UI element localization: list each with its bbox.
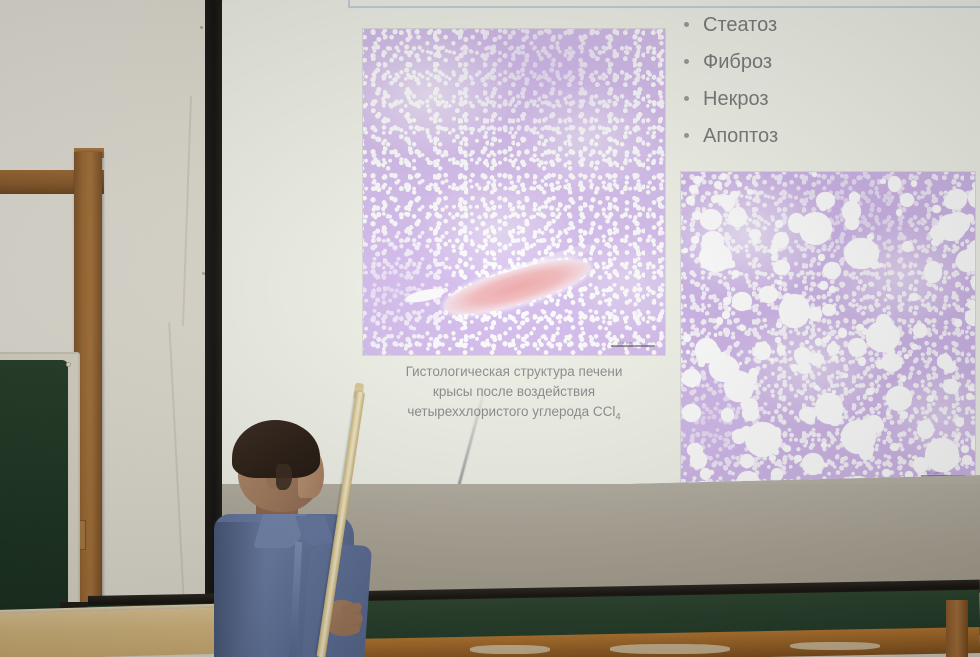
fat-vacuole — [911, 180, 917, 186]
slide-bullet-list: Стеатоз Фиброз Некроз Апоптоз — [684, 14, 980, 162]
stain-base — [363, 29, 665, 355]
fat-vacuole — [742, 406, 758, 421]
scale-bar-label: 50 μm — [927, 470, 940, 475]
ledge-wear — [790, 642, 880, 650]
fat-vacuole — [886, 386, 912, 411]
presenter-sideburn — [276, 464, 292, 490]
fat-vacuole — [858, 357, 866, 366]
fat-vacuole — [829, 286, 836, 293]
fat-vacuole — [955, 435, 960, 440]
fat-vacuole — [732, 292, 752, 311]
scale-bar: 100 μm — [611, 336, 657, 348]
fat-vacuole — [819, 281, 828, 290]
wall-speck — [200, 26, 203, 29]
caption-line-3-text: четыреххлористого углерода CCl — [407, 404, 615, 419]
fat-vacuole — [770, 358, 774, 362]
fat-vacuole — [812, 172, 817, 177]
fat-vacuole — [728, 307, 731, 311]
caption-line-3-subscript: 4 — [615, 412, 620, 423]
fat-vacuole — [719, 256, 731, 269]
fat-vacuole — [966, 214, 974, 222]
fat-vacuole — [963, 478, 966, 482]
fat-vacuole — [896, 209, 903, 216]
fat-vacuole — [773, 449, 779, 455]
fat-vacuole — [955, 417, 964, 427]
fat-vacuole — [876, 314, 891, 329]
fat-vacuole — [783, 445, 791, 452]
bullet-dot-icon — [684, 96, 689, 101]
caption-line-2: крысы после воздействия — [354, 382, 674, 402]
fat-vacuole — [692, 211, 702, 220]
bullet-dot-icon — [684, 59, 689, 64]
fat-vacuole — [911, 344, 918, 350]
histology-image-overview: 100 μm — [362, 28, 666, 356]
fat-vacuole — [882, 469, 891, 477]
fat-vacuole — [698, 360, 705, 367]
fat-vacuole — [771, 468, 783, 481]
fat-vacuole — [749, 368, 758, 378]
fat-vacuole — [954, 323, 957, 326]
fat-vacuole — [823, 262, 841, 279]
fat-vacuole — [856, 324, 864, 331]
fat-vacuole — [972, 182, 976, 189]
fat-vacuole — [723, 297, 731, 305]
fat-vacuole — [752, 237, 759, 244]
fat-vacuole — [730, 207, 746, 223]
bullet-label: Фиброз — [703, 51, 772, 74]
fat-vacuole — [763, 438, 773, 446]
scale-bar-line — [611, 345, 655, 347]
fat-vacuole — [944, 457, 953, 466]
fat-vacuole — [924, 261, 943, 282]
fat-vacuole — [753, 385, 758, 390]
fat-vacuole — [971, 242, 976, 251]
ledge-wear — [610, 644, 730, 654]
fat-vacuole — [808, 307, 821, 320]
fat-vacuole — [740, 454, 754, 467]
scale-bar: 50 μm — [921, 466, 967, 478]
fat-vacuole — [777, 280, 782, 284]
fat-vacuole — [822, 304, 836, 316]
ledge-wear — [470, 645, 550, 654]
fat-vacuole — [843, 373, 848, 377]
fat-vacuole — [747, 189, 753, 194]
fat-vacuole — [937, 354, 952, 369]
fat-vacuole — [776, 322, 781, 327]
fat-vacuole — [900, 376, 906, 382]
bullet-item: Фиброз — [684, 51, 980, 88]
fat-vacuole — [711, 195, 721, 203]
fat-vacuole — [739, 362, 742, 365]
fat-vacuole — [900, 193, 914, 207]
fat-vacuole — [838, 328, 847, 338]
bullet-item: Апоптоз — [684, 125, 980, 162]
lecture-photo: Токсическое поражение печени CCL4 100 μm — [0, 0, 980, 657]
scale-bar-line — [921, 475, 965, 477]
fat-vacuole — [904, 354, 909, 359]
bullet-label: Некроз — [703, 88, 769, 111]
fat-vacuole — [722, 311, 730, 319]
fat-vacuole — [965, 309, 976, 326]
fat-vacuole — [689, 185, 698, 194]
fat-vacuole — [927, 395, 934, 402]
fat-vacuole — [890, 443, 899, 451]
fat-vacuole — [826, 335, 831, 339]
fat-vacuole — [709, 470, 714, 475]
fat-vacuole — [967, 300, 976, 310]
bullet-dot-icon — [684, 133, 689, 138]
fat-vacuole — [849, 342, 866, 357]
stain-blotches — [363, 29, 665, 355]
fat-vacuole — [952, 199, 959, 206]
fat-vacuole — [932, 205, 941, 213]
fat-vacuole — [791, 364, 798, 372]
fat-vacuole — [844, 238, 879, 269]
fat-vacuole — [797, 362, 811, 374]
wooden-post-right — [946, 600, 968, 657]
fat-vacuole — [905, 471, 913, 479]
fat-vacuole — [943, 379, 958, 394]
fat-vacuole — [682, 404, 701, 422]
fat-vacuole — [818, 470, 822, 474]
fat-vacuole — [732, 270, 739, 278]
fat-vacuole — [775, 337, 781, 343]
bullet-label: Апоптоз — [703, 125, 778, 148]
fat-vacuole — [741, 426, 752, 438]
bullet-item: Некроз — [684, 88, 980, 125]
fat-vacuole — [815, 393, 843, 423]
slide-title-box — [348, 0, 980, 8]
caption-line-1: Гистологическая структура печени — [354, 362, 674, 382]
fat-vacuole — [747, 476, 755, 484]
fat-vacuole — [827, 343, 839, 355]
fat-vacuole — [794, 455, 802, 462]
bullet-label: Стеатоз — [703, 14, 777, 37]
caption-line-3: четыреххлористого углерода CCl4 — [354, 402, 674, 428]
chalkboard-screw — [66, 362, 71, 367]
fat-vacuole — [865, 445, 875, 454]
fat-vacuole — [879, 263, 883, 267]
bullet-item: Стеатоз — [684, 14, 980, 51]
fat-vacuole — [900, 411, 908, 419]
fat-vacuole — [881, 353, 902, 371]
fat-vacuole — [686, 196, 695, 205]
fat-vacuole — [683, 248, 688, 253]
chalkboard-left — [0, 360, 68, 632]
fat-vacuole — [714, 181, 722, 189]
fat-vacuole — [769, 455, 775, 461]
fat-vacuole — [770, 246, 778, 255]
fat-vacuole — [821, 442, 827, 448]
fat-vacuole — [779, 294, 810, 329]
fat-vacuole — [880, 179, 886, 184]
fat-vacuole — [683, 334, 691, 343]
fat-vacuole — [850, 437, 856, 443]
fat-vacuole — [818, 254, 825, 261]
slide-caption: Гистологическая структура печени крысы п… — [354, 362, 674, 428]
bullet-dot-icon — [684, 22, 689, 27]
histology-image-steatosis: 50 μm — [680, 171, 976, 486]
fat-vacuole — [968, 385, 974, 390]
scale-bar-label: 100 μm — [617, 340, 632, 345]
fat-vacuole — [700, 209, 722, 230]
fat-vacuole — [737, 182, 741, 186]
